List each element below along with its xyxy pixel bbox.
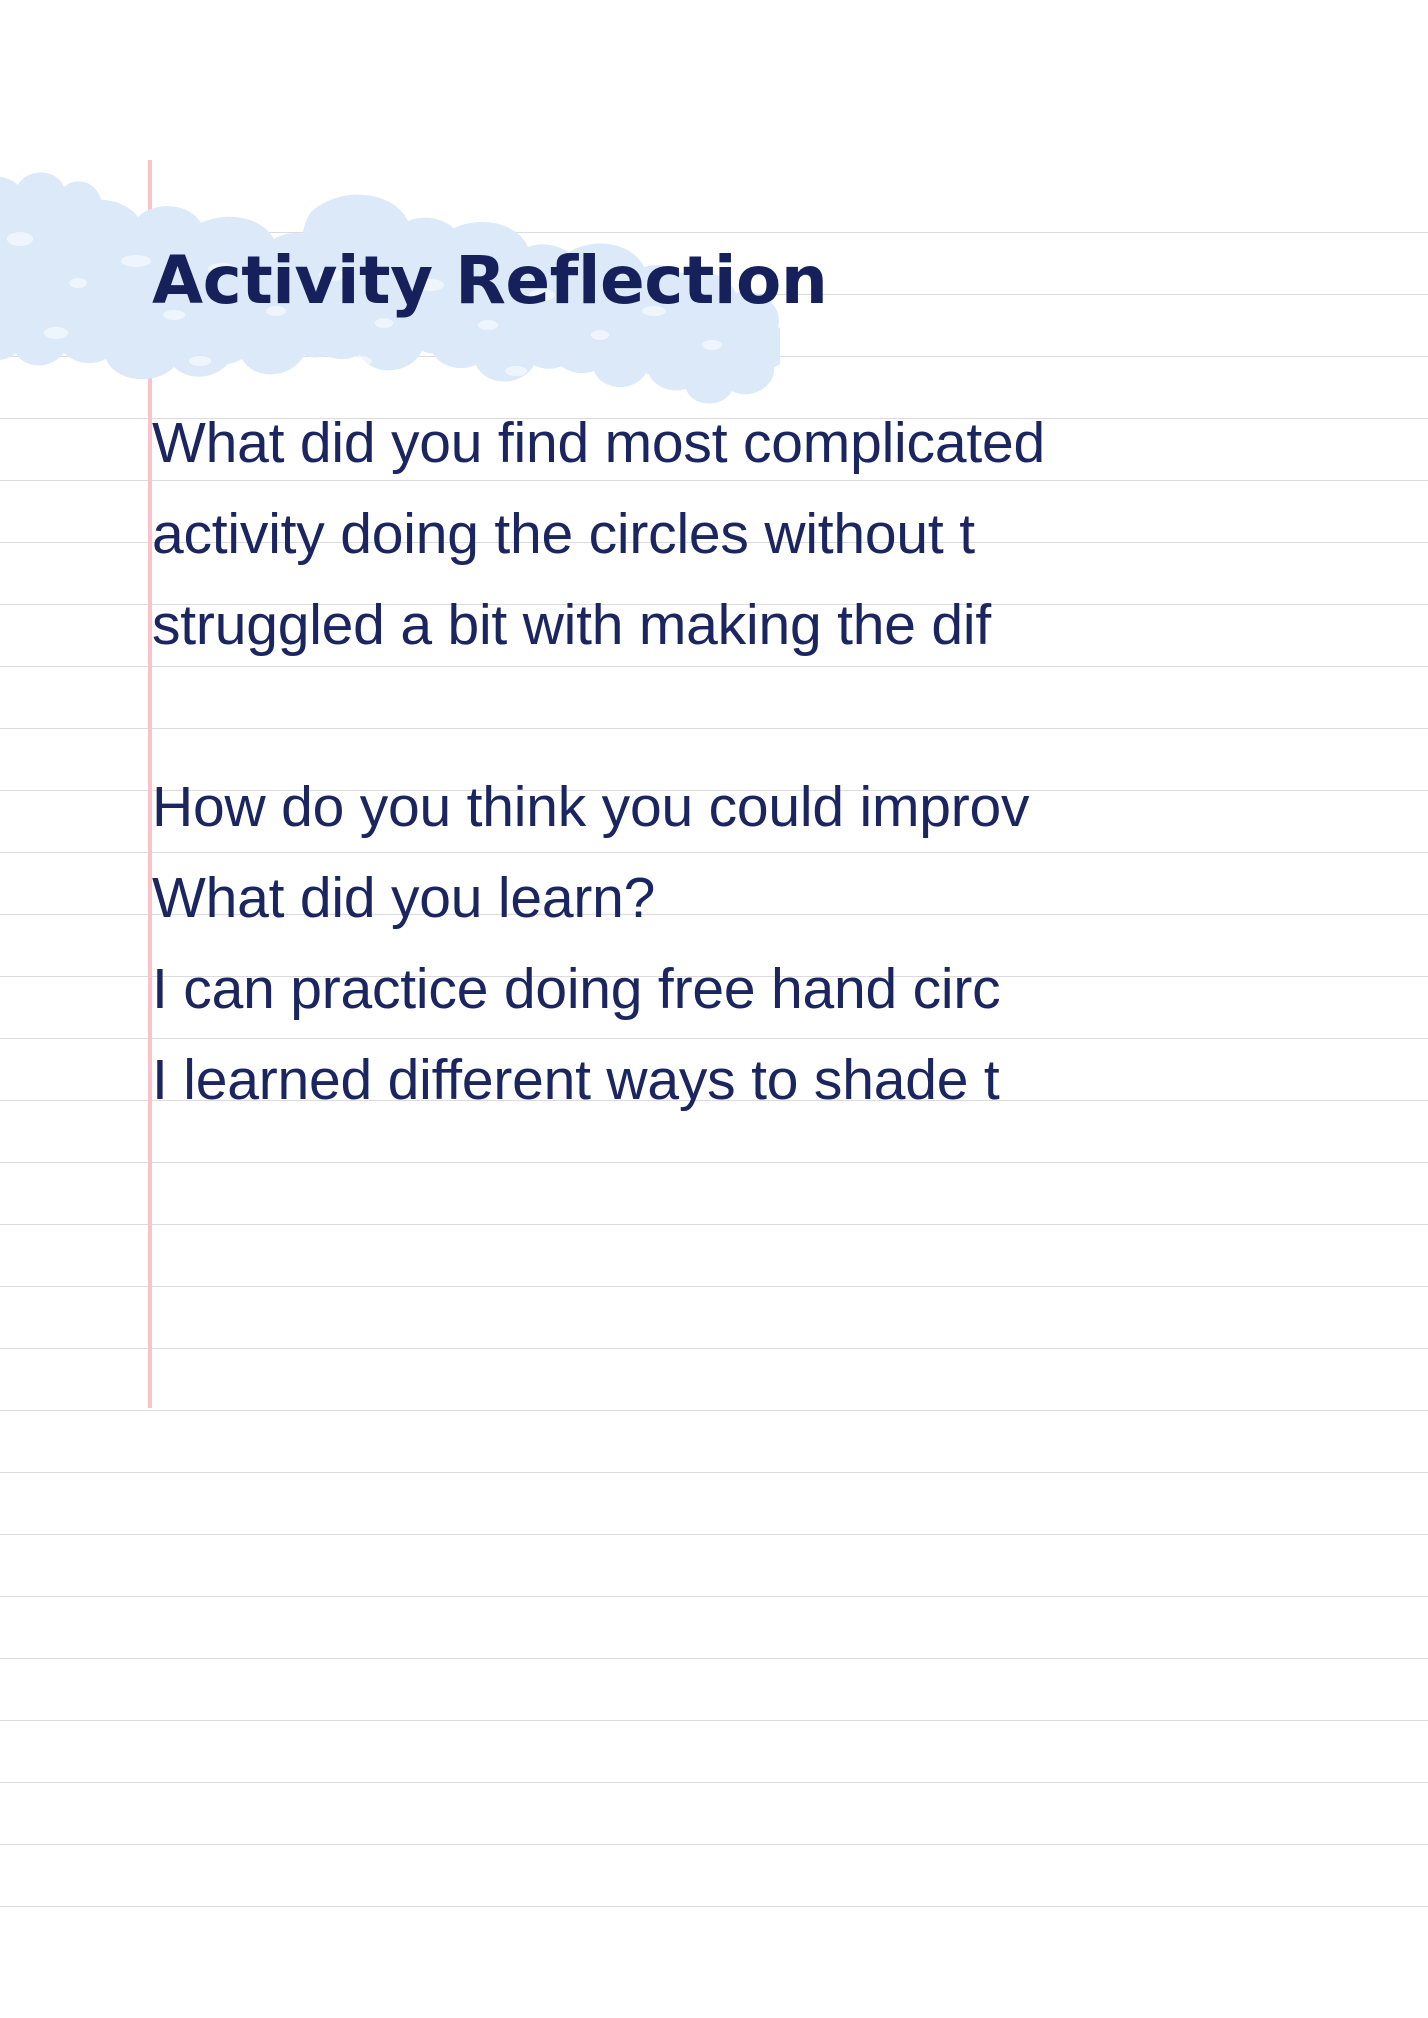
answer-line: I learned different ways to shade t [152,1035,1428,1126]
answer-line: I can practice doing free hand circ [152,944,1428,1035]
page-content: Activity Reflection What did you find mo… [0,0,1428,2018]
text-clip-region: Activity Reflection What did you find mo… [0,0,1428,2018]
answer-line: How do you think you could improv [152,762,1428,853]
answer-line: struggled a bit with making the dif [152,580,1428,671]
blank-line [152,671,1428,762]
answer-line: activity doing the circles without t [152,489,1428,580]
answer-line: What did you learn? [152,853,1428,944]
answer-line: What did you find most complicated [152,398,1428,489]
notebook-page: Activity Reflection What did you find mo… [0,0,1428,2018]
reflection-answers: What did you find most complicatedactivi… [152,398,1428,1126]
page-title: Activity Reflection [152,242,827,319]
